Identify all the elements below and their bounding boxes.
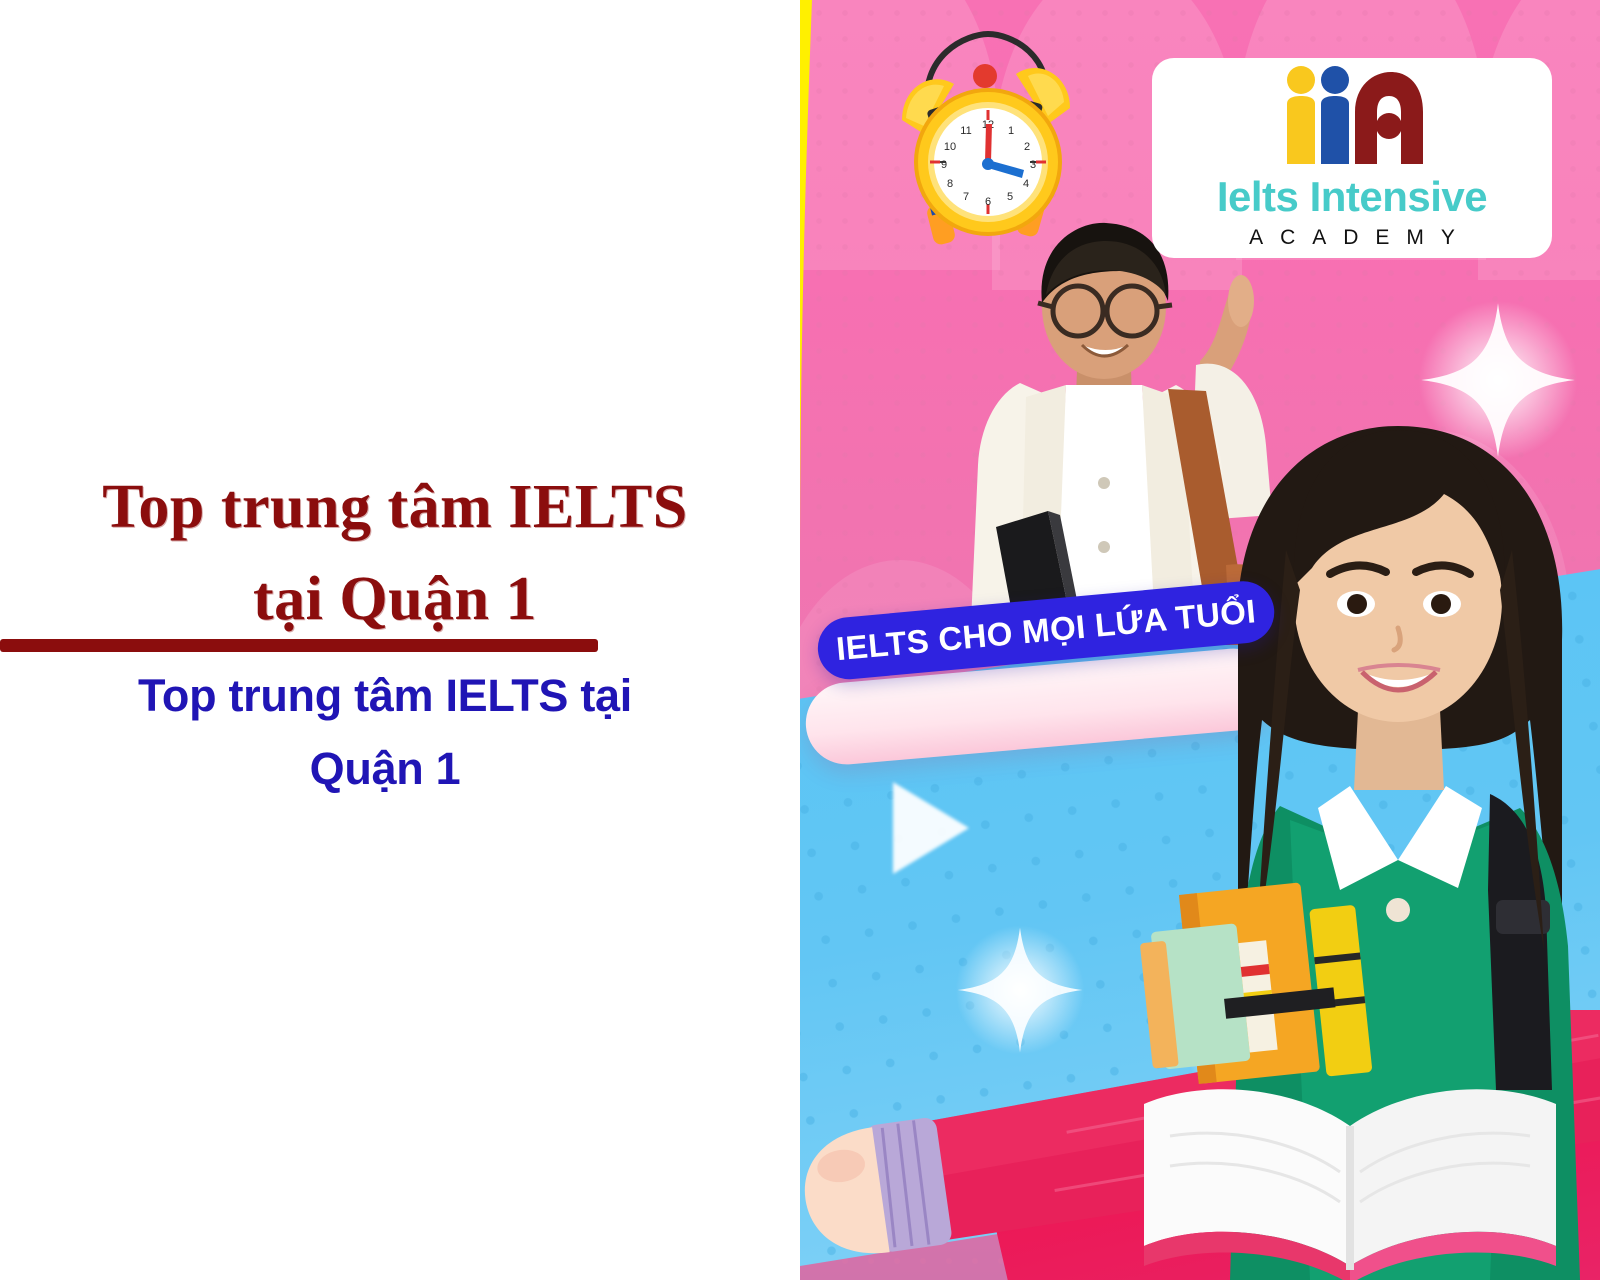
svg-text:10: 10 bbox=[944, 141, 956, 153]
page-title-line-1: Top trung tâm IELTS bbox=[0, 462, 790, 554]
svg-text:3: 3 bbox=[1030, 159, 1036, 171]
play-triangle-icon bbox=[893, 782, 969, 874]
svg-text:8: 8 bbox=[947, 178, 953, 190]
svg-text:4: 4 bbox=[1023, 178, 1029, 190]
alarm-clock-icon: 12 1 2 3 4 5 6 7 8 9 10 11 bbox=[896, 28, 1076, 258]
svg-text:6: 6 bbox=[985, 196, 991, 208]
page-subtitle-line-2: Quận 1 bbox=[0, 733, 770, 806]
iia-logo-mark-icon bbox=[1277, 64, 1427, 176]
svg-text:2: 2 bbox=[1024, 141, 1030, 153]
logo-wordmark: Ielts Intensive bbox=[1217, 176, 1487, 218]
poster-canvas: IELTS CHO MỌI LỨA TUỔI bbox=[0, 0, 1600, 1280]
academy-logo-card: Ielts Intensive ACADEMY bbox=[1152, 58, 1552, 258]
svg-text:7: 7 bbox=[963, 191, 969, 203]
svg-text:9: 9 bbox=[941, 159, 947, 171]
page-title: Top trung tâm IELTS tại Quận 1 bbox=[0, 462, 790, 646]
open-book-illustration bbox=[1130, 1040, 1570, 1280]
svg-text:5: 5 bbox=[1007, 191, 1013, 203]
title-underline-rule bbox=[0, 639, 598, 652]
svg-text:1: 1 bbox=[1008, 125, 1014, 137]
text-panel: Top trung tâm IELTS tại Quận 1 Top trung… bbox=[0, 0, 800, 1280]
logo-sub-wordmark: ACADEMY bbox=[1232, 226, 1472, 250]
svg-text:11: 11 bbox=[960, 125, 971, 137]
page-title-line-2: tại Quận 1 bbox=[0, 554, 790, 646]
page-subtitle: Top trung tâm IELTS tại Quận 1 bbox=[0, 660, 770, 806]
page-subtitle-line-1: Top trung tâm IELTS tại bbox=[0, 660, 770, 733]
